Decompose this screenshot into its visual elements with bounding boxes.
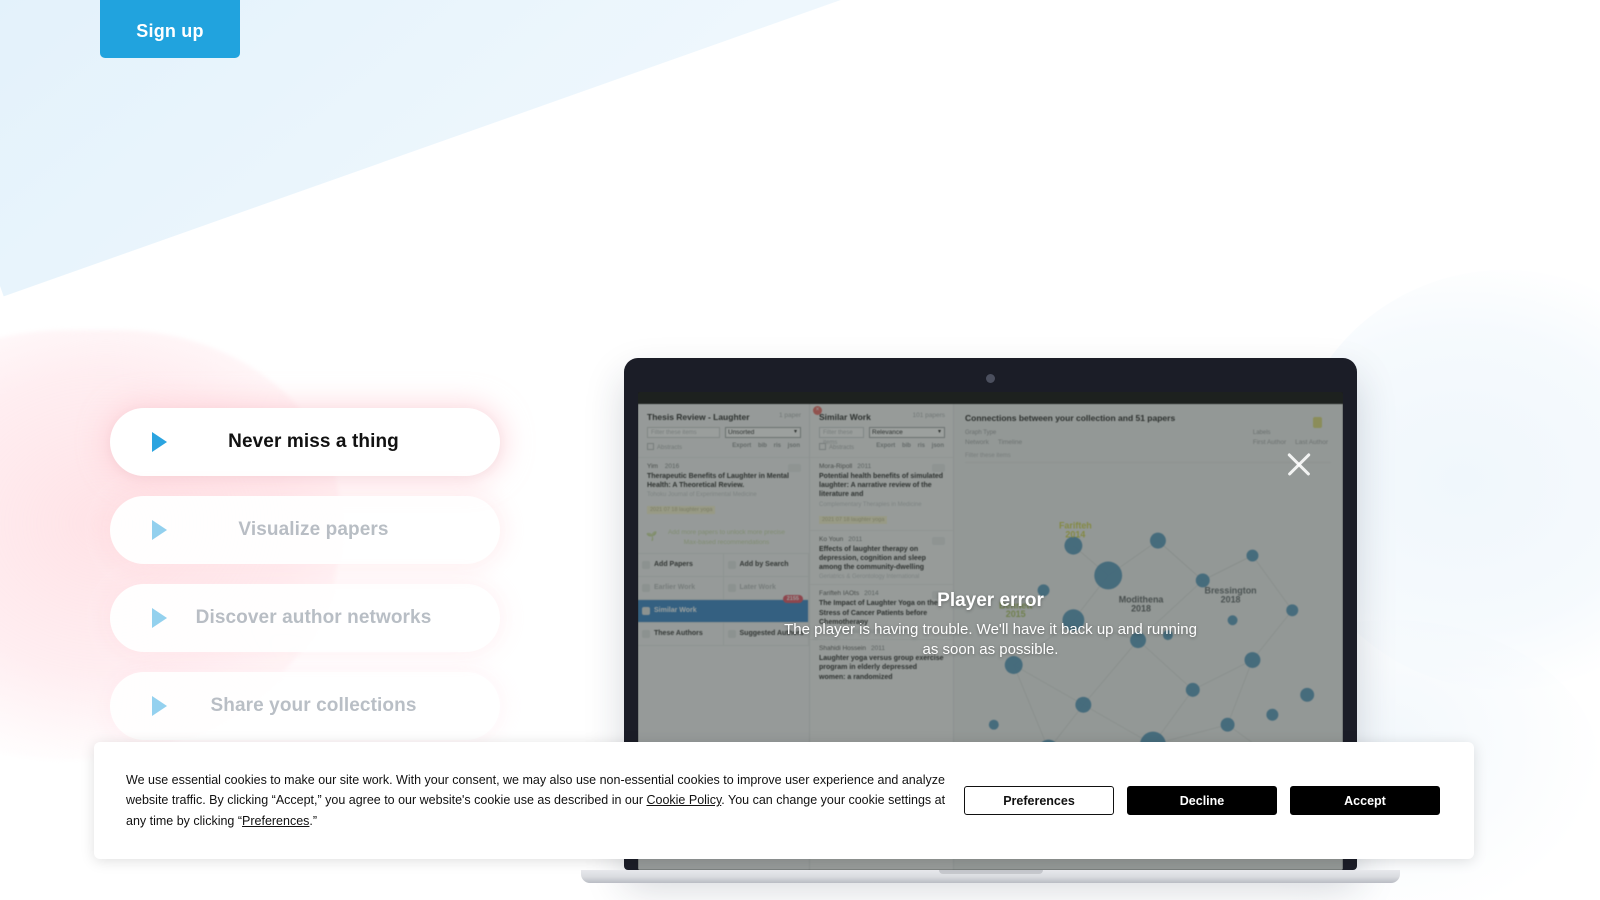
feature-label: Visualize papers: [167, 519, 460, 541]
cookie-policy-link[interactable]: Cookie Policy: [646, 793, 721, 807]
play-icon: [152, 696, 167, 716]
cookie-banner-text: We use essential cookies to make our sit…: [126, 770, 956, 832]
preferences-link[interactable]: Preferences: [242, 814, 309, 828]
accept-button[interactable]: Accept: [1290, 786, 1440, 815]
feature-label: Share your collections: [167, 695, 460, 717]
laptop-base: [581, 870, 1400, 883]
play-icon: [152, 432, 167, 452]
cookie-consent-banner: We use essential cookies to make our sit…: [94, 742, 1474, 859]
sign-up-button[interactable]: Sign up: [100, 0, 240, 58]
play-icon: [152, 520, 167, 540]
play-icon: [152, 608, 167, 628]
feature-item-discover-author-networks[interactable]: Discover author networks: [110, 584, 500, 652]
feature-item-share-your-collections[interactable]: Share your collections: [110, 672, 500, 740]
decline-button[interactable]: Decline: [1127, 786, 1277, 815]
preferences-button[interactable]: Preferences: [964, 786, 1114, 815]
diagonal-blue-band: [0, 0, 1600, 296]
cookie-text-part3: .”: [309, 814, 317, 828]
feature-label: Discover author networks: [167, 607, 460, 629]
feature-list: Never miss a thing Visualize papers Disc…: [110, 408, 500, 760]
cookie-banner-buttons: Preferences Decline Accept: [964, 786, 1440, 815]
feature-item-never-miss-a-thing[interactable]: Never miss a thing: [110, 408, 500, 476]
player-error-message: Player error The player is having troubl…: [638, 590, 1343, 661]
player-error-body: The player is having trouble. We'll have…: [776, 620, 1206, 661]
close-icon[interactable]: [1283, 448, 1315, 480]
player-error-title: Player error: [638, 590, 1343, 612]
feature-label: Never miss a thing: [167, 431, 460, 453]
feature-item-visualize-papers[interactable]: Visualize papers: [110, 496, 500, 564]
webcam-icon: [986, 374, 995, 383]
